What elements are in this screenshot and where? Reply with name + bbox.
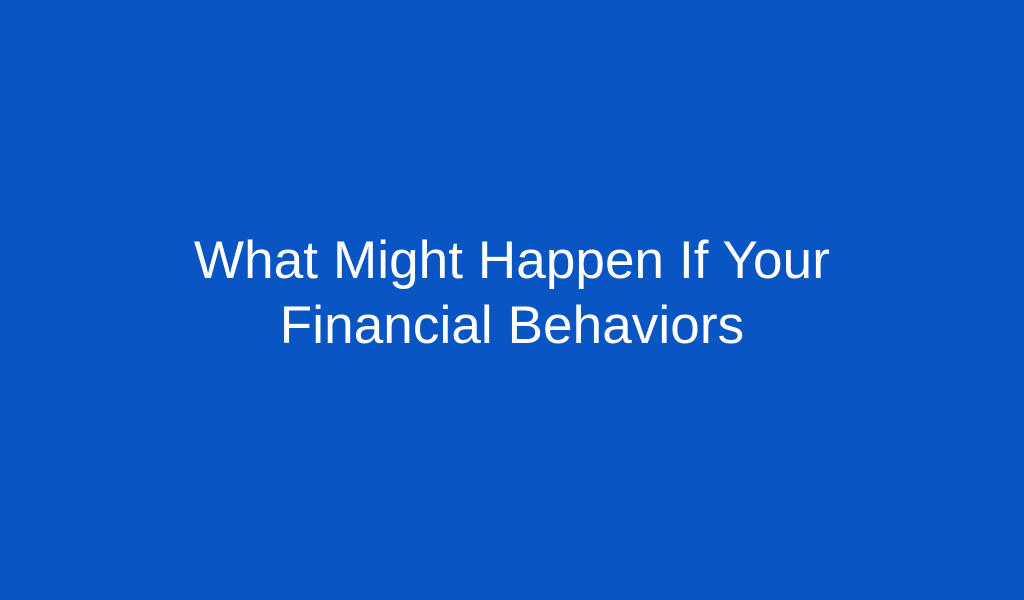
hero-card: What Might Happen If Your Financial Beha… — [0, 0, 1024, 600]
page-title: What Might Happen If Your Financial Beha… — [117, 228, 907, 358]
title-block: What Might Happen If Your Financial Beha… — [0, 228, 1024, 358]
